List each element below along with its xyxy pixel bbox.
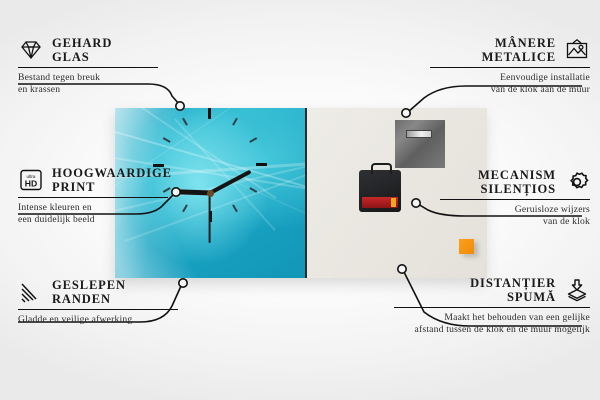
feature-desc: Eenvoudige installatie van de klok aan d… [430,72,590,96]
divider [430,67,590,68]
svg-text:HD: HD [25,178,37,188]
divider [440,199,590,200]
feature-gehard-glas: GEHARD GLAS Bestand tegen breuk en krass… [18,36,158,96]
callout-dot-edges [179,279,187,287]
feature-manere-metalice: MÂNERE METALICE Eenvoudige installatie v… [430,36,590,96]
clock-hour-hand [176,189,210,195]
divider [18,67,158,68]
feature-mecanism-silentios: MECANISM SILENȚIOS Geruisloze wijzers va… [440,168,590,228]
metal-hanger-plate [395,120,445,168]
picture-frame-icon [564,38,590,62]
movement-hanger-tab [371,163,392,174]
clock-movement [359,170,401,212]
clock-center-cap [207,190,214,197]
feature-desc: Maakt het behouden van een gelijke afsta… [394,312,590,336]
divider [394,307,590,308]
infographic-stage: GEHARD GLAS Bestand tegen breuk en krass… [0,0,600,400]
feature-title: GESLEPEN RANDEN [52,278,126,306]
foam-spacer [459,239,474,254]
divider [18,309,178,310]
feature-title: DISTANȚIER SPUMĂ [470,276,556,304]
feature-desc: Intense kleuren en een duidelijk beeld [18,202,168,226]
feature-desc: Bestand tegen breuk en krassen [18,72,158,96]
ultra-hd-icon: ultra HD [18,168,44,192]
divider [18,197,168,198]
feature-title: MECANISM SILENȚIOS [478,168,556,196]
diamond-icon [18,38,44,62]
hanger-slot [406,130,432,138]
foam-spacer-icon [564,278,590,302]
battery [362,197,398,208]
feature-distantier-spuma: DISTANȚIER SPUMĂ Maakt het behouden van … [394,276,590,336]
clock-second-hand [209,193,211,243]
feature-hoogwaardige-print: ultra HD HOOGWAARDIGE PRINT Intense kleu… [18,166,168,226]
feature-title: GEHARD GLAS [52,36,112,64]
feature-desc: Geruisloze wijzers van de klok [440,204,590,228]
feature-title: MÂNERE METALICE [482,36,556,64]
battery-terminal [391,198,396,207]
gear-icon [564,170,590,194]
feature-geslepen-randen: GESLEPEN RANDEN Gladde en veilige afwerk… [18,278,178,326]
beveled-edges-icon [18,280,44,304]
feature-title: HOOGWAARDIGE PRINT [52,166,172,194]
feature-desc: Gladde en veilige afwerking [18,314,178,326]
